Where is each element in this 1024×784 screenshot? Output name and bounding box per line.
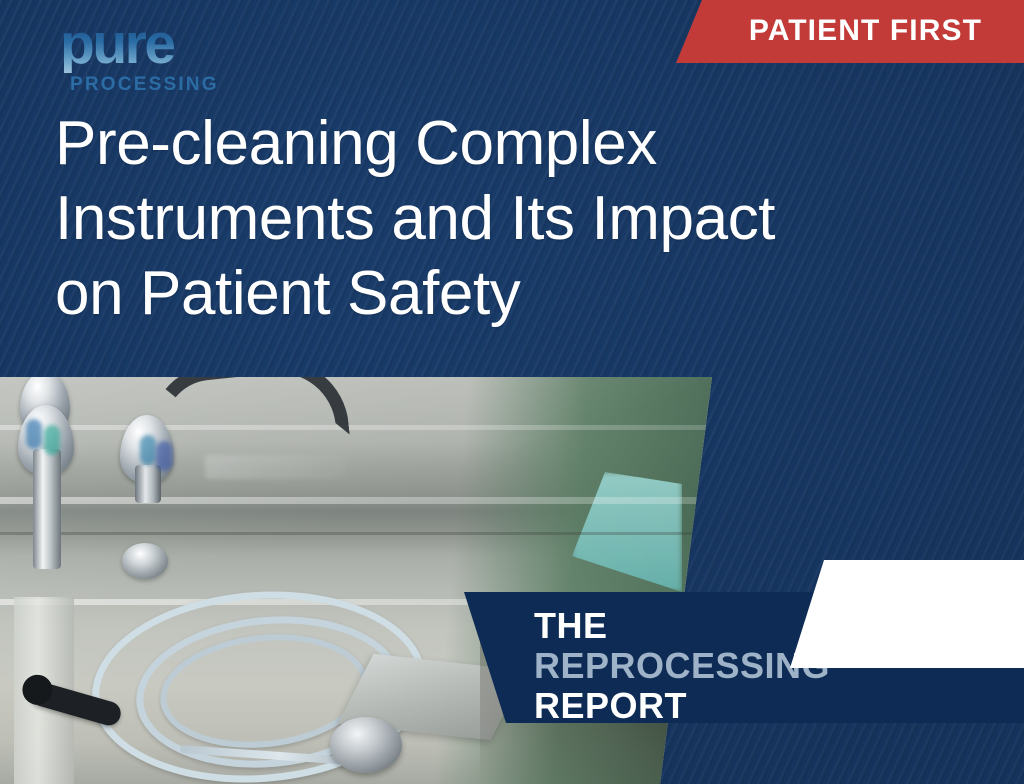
chrome-reflection-1 — [26, 419, 42, 449]
photo-counter-edge-2 — [0, 497, 720, 504]
faucet-stem-2 — [135, 465, 161, 503]
page-title-line-1: Pre-cleaning Complex — [55, 106, 925, 181]
report-banner-line-3: REPORT — [534, 686, 830, 726]
sink-drain-knob — [122, 543, 168, 579]
patient-first-label: PATIENT FIRST — [749, 13, 982, 49]
photo-engraved-logo — [205, 455, 345, 479]
slide-canvas: PATIENT FIRST Pre-cleaning Complex Instr… — [0, 0, 1024, 784]
faucet-stem-1 — [33, 449, 61, 569]
chrome-reflection-4 — [156, 441, 172, 471]
report-banner-line-1: THE — [534, 606, 830, 646]
brand-logo-panel — [790, 560, 1024, 668]
report-banner-line-2: REPROCESSING — [534, 646, 830, 686]
report-banner-text: THE REPROCESSING REPORT — [534, 606, 830, 726]
chrome-reflection-3 — [140, 435, 156, 465]
endoscope-connector — [330, 717, 402, 773]
page-title: Pre-cleaning Complex Instruments and Its… — [55, 106, 925, 331]
photo-counter-edge-1 — [0, 425, 720, 430]
brand-wordmark: pure — [60, 16, 174, 73]
page-title-line-3: on Patient Safety — [55, 256, 925, 331]
chrome-reflection-2 — [44, 425, 60, 455]
brand-subtitle: PROCESSING — [70, 74, 219, 96]
page-title-line-2: Instruments and Its Impact — [55, 181, 925, 256]
photo-counter-edge-3 — [0, 532, 720, 535]
